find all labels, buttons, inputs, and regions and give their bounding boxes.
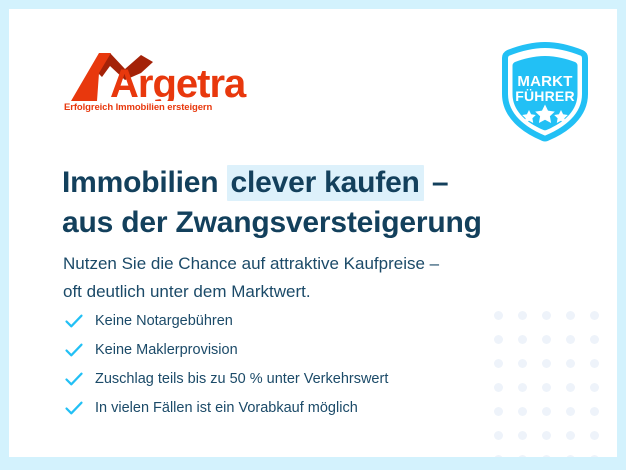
grid-dot: [590, 335, 599, 344]
grid-dot: [590, 455, 599, 457]
dot-grid-decoration: [487, 304, 607, 457]
advertisement-card[interactable]: Argetra Erfolgreich Immobilien ersteiger…: [9, 9, 617, 457]
list-item: In vielen Fällen ist ein Vorabkauf mögli…: [64, 393, 388, 422]
list-item-label: Keine Maklerprovision: [95, 342, 238, 358]
list-item: Zuschlag teils bis zu 50 % unter Verkehr…: [64, 364, 388, 393]
shield-badge-icon: MARKT FÜHRER: [496, 42, 594, 142]
grid-dot: [518, 431, 527, 440]
list-item: Keine Notargebühren: [64, 306, 388, 335]
grid-dot: [566, 407, 575, 416]
grid-dot: [542, 383, 551, 392]
grid-dot: [590, 383, 599, 392]
list-item: Keine Maklerprovision: [64, 335, 388, 364]
grid-dot: [494, 383, 503, 392]
grid-dot: [542, 455, 551, 457]
grid-dot: [518, 383, 527, 392]
benefits-list: Keine Notargebühren Keine Maklerprovisio…: [64, 306, 388, 422]
grid-dot: [494, 455, 503, 457]
svg-text:FÜHRER: FÜHRER: [515, 88, 575, 104]
grid-dot: [542, 311, 551, 320]
svg-text:Argetra: Argetra: [110, 62, 247, 101]
grid-dot: [590, 407, 599, 416]
grid-dot: [566, 359, 575, 368]
grid-dot: [566, 455, 575, 457]
check-icon: [64, 311, 84, 331]
list-item-label: Keine Notargebühren: [95, 313, 233, 329]
grid-dot: [518, 407, 527, 416]
logo-tagline: Erfolgreich Immobilien ersteigern: [64, 102, 212, 113]
grid-dot: [494, 431, 503, 440]
headline-line-2: aus der Zwangsversteigerung: [62, 203, 562, 243]
list-item-label: In vielen Fällen ist ein Vorabkauf mögli…: [95, 400, 358, 416]
grid-dot: [518, 359, 527, 368]
grid-dot: [494, 335, 503, 344]
subtitle-line-2: oft deutlich unter dem Marktwert.: [63, 278, 573, 306]
grid-dot: [566, 383, 575, 392]
grid-dot: [590, 311, 599, 320]
market-leader-badge: MARKT FÜHRER: [496, 42, 594, 142]
headline-part-2: –: [424, 166, 449, 199]
grid-dot: [518, 311, 527, 320]
grid-dot: [590, 431, 599, 440]
grid-dot: [518, 335, 527, 344]
grid-dot: [494, 407, 503, 416]
argetra-logo-mark: Argetra: [63, 49, 263, 101]
subtitle: Nutzen Sie die Chance auf attraktive Kau…: [63, 250, 573, 305]
subtitle-line-1: Nutzen Sie die Chance auf attraktive Kau…: [63, 250, 573, 278]
grid-dot: [494, 311, 503, 320]
grid-dot: [542, 431, 551, 440]
grid-dot: [542, 407, 551, 416]
check-icon: [64, 340, 84, 360]
grid-dot: [566, 311, 575, 320]
headline-part-1: Immobilien: [62, 166, 227, 199]
grid-dot: [590, 359, 599, 368]
argetra-logo[interactable]: Argetra Erfolgreich Immobilien ersteiger…: [63, 49, 263, 119]
page-title: Immobilien clever kaufen – aus der Zwang…: [62, 163, 562, 243]
grid-dot: [542, 335, 551, 344]
grid-dot: [566, 335, 575, 344]
grid-dot: [566, 431, 575, 440]
grid-dot: [518, 455, 527, 457]
check-icon: [64, 398, 84, 418]
headline-highlight: clever kaufen: [227, 165, 424, 201]
check-icon: [64, 369, 84, 389]
grid-dot: [494, 359, 503, 368]
grid-dot: [542, 359, 551, 368]
list-item-label: Zuschlag teils bis zu 50 % unter Verkehr…: [95, 371, 388, 387]
